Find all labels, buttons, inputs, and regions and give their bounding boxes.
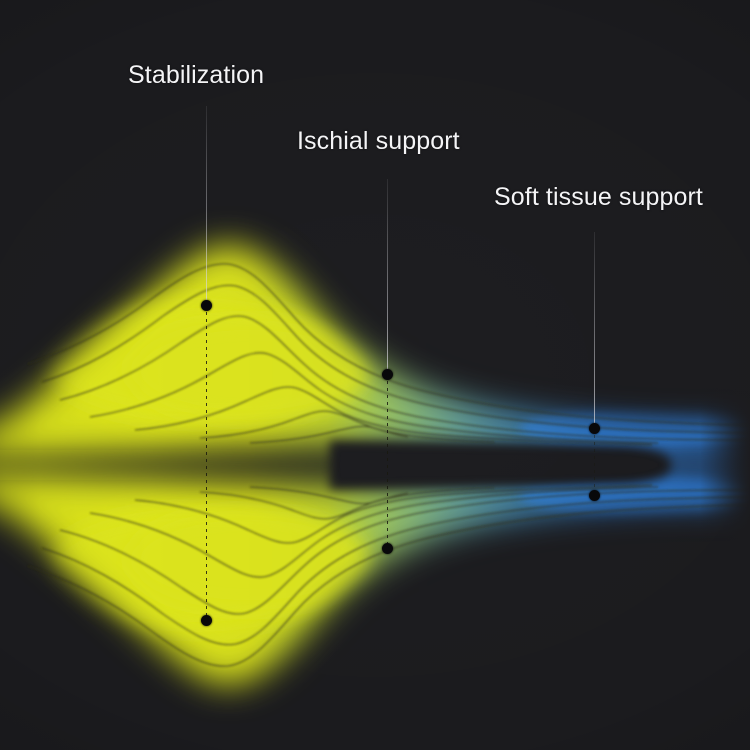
marker-dot-soft-tissue-support-top[interactable]	[589, 423, 600, 434]
dashed-connector-stabilization	[206, 305, 207, 620]
label-stabilization: Stabilization	[128, 60, 264, 90]
label-ischial-support: Ischial support	[297, 126, 460, 156]
dashed-connector-soft-tissue-support	[594, 428, 595, 495]
pressure-map-figure: Stabilization Ischial support Soft tissu…	[0, 0, 750, 750]
leader-line-ischial-support	[387, 179, 388, 374]
dashed-connector-ischial-support	[387, 374, 388, 548]
marker-dot-ischial-support-top[interactable]	[382, 369, 393, 380]
marker-dot-stabilization-bottom[interactable]	[201, 615, 212, 626]
marker-dot-soft-tissue-support-bottom[interactable]	[589, 490, 600, 501]
marker-dot-ischial-support-bottom[interactable]	[382, 543, 393, 554]
annotation-layer: Stabilization Ischial support Soft tissu…	[0, 0, 750, 750]
label-soft-tissue-support: Soft tissue support	[494, 182, 703, 212]
marker-dot-stabilization-top[interactable]	[201, 300, 212, 311]
leader-line-stabilization	[206, 106, 207, 305]
leader-line-soft-tissue-support	[594, 232, 595, 428]
